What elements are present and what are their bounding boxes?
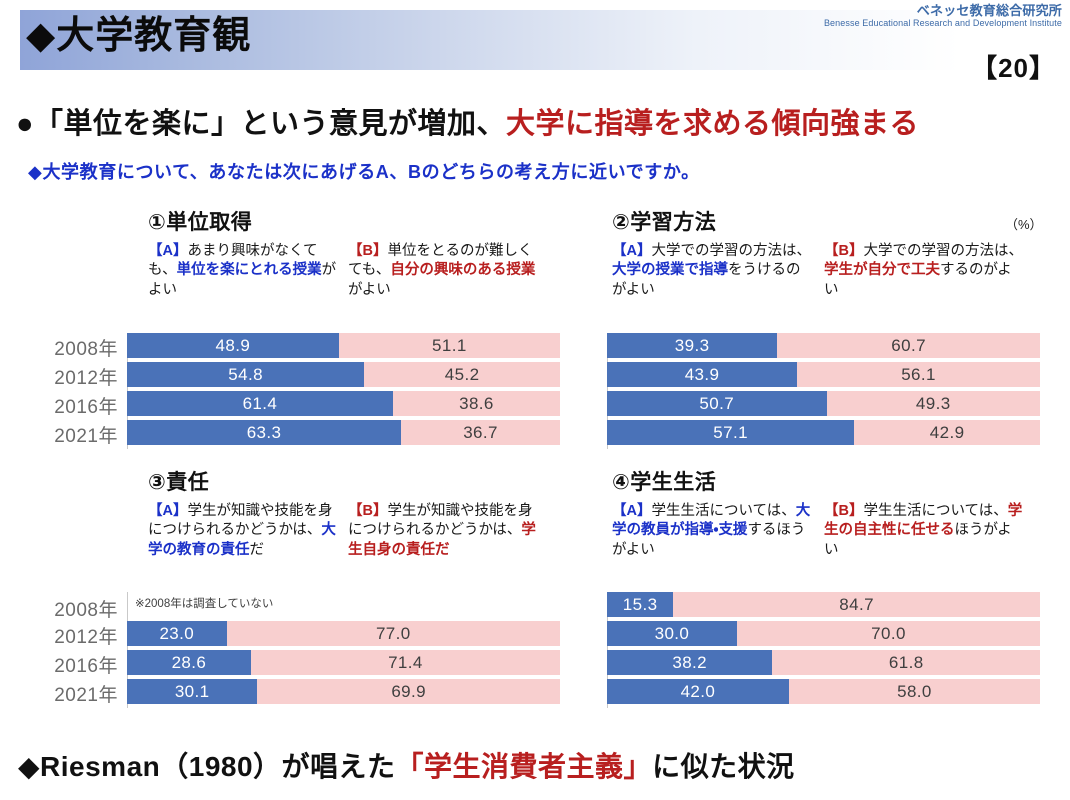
bar-series-b: 71.4 bbox=[251, 650, 560, 675]
year-label: 2016年 bbox=[54, 392, 118, 419]
footer-after: に似た状況 bbox=[652, 751, 795, 782]
bar-value-b: 38.6 bbox=[393, 391, 560, 416]
quadrant-title: ④学生生活 bbox=[612, 466, 1042, 496]
chart-row: 2021年 63.3 36.7 bbox=[127, 420, 560, 445]
bar-value-b: 77.0 bbox=[227, 621, 560, 646]
option-a-seg-2: 単位を楽にとれる授 bbox=[177, 262, 308, 278]
option-b-seg-0: 大学での学習の方 bbox=[863, 243, 979, 259]
option-a-seg-3: 導 bbox=[714, 262, 729, 278]
headline-accent: 大学に指導を求める傾向強まる bbox=[506, 108, 919, 140]
bar-value-a: 48.9 bbox=[127, 333, 339, 358]
bar-series-b: 36.7 bbox=[401, 420, 560, 445]
page-number: 【20】 bbox=[971, 48, 1056, 85]
chart-row: 15.3 84.7 bbox=[607, 592, 1040, 617]
chart-row: 2008年 48.9 51.1 bbox=[127, 333, 560, 358]
option-b-seg-4: がよい bbox=[348, 282, 391, 298]
option-b-tag: 【B】 bbox=[824, 503, 863, 519]
option-a-tag: 【A】 bbox=[612, 243, 651, 259]
no-survey-note: ※2008年は調査していない bbox=[135, 595, 273, 611]
chart-row-no-data: 2008年 ※2008年は調査していない bbox=[127, 592, 560, 617]
option-a-seg-0: 大学での学習の方 bbox=[651, 243, 767, 259]
bar-series-a: 57.1 bbox=[607, 420, 854, 445]
bar-series-a: 15.3 bbox=[607, 592, 673, 617]
option-a-tag: 【A】 bbox=[148, 503, 187, 519]
bar-value-a: 28.6 bbox=[127, 650, 251, 675]
quadrant-tanni-shutoku: ①単位取得 【A】あまり興味がなくても、単位を楽にとれる授業がよい 【B】単位を… bbox=[148, 206, 568, 328]
option-a-seg-0: 学生生活について bbox=[651, 503, 766, 519]
chart-row: 42.0 58.0 bbox=[607, 679, 1040, 704]
bar-value-a: 38.2 bbox=[607, 650, 772, 675]
bar-value-b: 42.9 bbox=[854, 420, 1040, 445]
bar-value-b: 51.1 bbox=[339, 333, 560, 358]
bar-series-a: 30.1 bbox=[127, 679, 257, 704]
bar-series-b: 38.6 bbox=[393, 391, 560, 416]
chart-row: 39.3 60.7 bbox=[607, 333, 1040, 358]
option-a-seg-4: だ bbox=[250, 542, 265, 558]
year-label: 2008年 bbox=[54, 334, 118, 361]
bar-series-a: 48.9 bbox=[127, 333, 339, 358]
option-b-seg-3: ある授業 bbox=[477, 262, 535, 278]
option-a-text: 【A】学生生活については、大学の教員が指導・支援するほうがよい bbox=[612, 502, 812, 560]
bar-series-b: 61.8 bbox=[772, 650, 1040, 675]
option-b-text: 【B】大学での学習の方法は、学生が自分で工夫するのがよい bbox=[824, 242, 1024, 300]
bar-value-a: 50.7 bbox=[607, 391, 827, 416]
bar-series-b: 42.9 bbox=[854, 420, 1040, 445]
bar-value-b: 60.7 bbox=[777, 333, 1040, 358]
chart-gakusei-seikatsu: 15.3 84.7 30.0 70.0 38.2 61.8 42.0 58.0 bbox=[607, 592, 1040, 708]
footer-before: ◆Riesman（1980）が唱えた bbox=[18, 751, 396, 782]
bar-value-a: 57.1 bbox=[607, 420, 854, 445]
chart-gakushu-houhou: 39.3 60.7 43.9 56.1 50.7 49.3 57.1 42.9 bbox=[607, 333, 1040, 449]
bar-series-b: 49.3 bbox=[827, 391, 1040, 416]
bar-series-b: 77.0 bbox=[227, 621, 560, 646]
bar-series-a: 23.0 bbox=[127, 621, 227, 646]
bar-series-a: 50.7 bbox=[607, 391, 827, 416]
footer-note: ◆Riesman（1980）が唱えた「学生消費者主義」に似た状況 bbox=[18, 745, 795, 785]
quadrant-sekinin: ③責任 【A】学生が知識や技能を身につけられるかどうかは、大学の教育の責任だ 【… bbox=[148, 466, 568, 588]
option-a-seg-3: 業 bbox=[307, 262, 322, 278]
option-b-seg-1: は、 bbox=[979, 503, 1008, 519]
chart-row: 30.0 70.0 bbox=[607, 621, 1040, 646]
bar-value-a: 30.0 bbox=[607, 621, 737, 646]
bar-series-a: 28.6 bbox=[127, 650, 251, 675]
bar-value-a: 42.0 bbox=[607, 679, 789, 704]
bar-value-b: 49.3 bbox=[827, 391, 1040, 416]
bar-value-b: 45.2 bbox=[364, 362, 560, 387]
year-label: 2021年 bbox=[54, 421, 118, 448]
option-a-seg-0: あまり興味がなくて bbox=[187, 243, 316, 259]
bar-value-b: 84.7 bbox=[673, 592, 1040, 617]
headline: ●「単位を楽に」という意見が増加、大学に指導を求める傾向強まる bbox=[16, 100, 1056, 142]
survey-question: ◆大学教育について、あなたは次にあげるA、Bのどちらの考え方に近いですか。 bbox=[28, 158, 700, 184]
year-label: 2021年 bbox=[54, 680, 118, 707]
option-a-text: 【A】あまり興味がなくても、単位を楽にとれる授業がよい bbox=[148, 242, 344, 300]
option-a-text: 【A】学生が知識や技能を身につけられるかどうかは、大学の教育の責任だ bbox=[148, 502, 344, 560]
option-a-seg-3: 支援 bbox=[718, 522, 747, 538]
option-b-text: 【B】学生が知識や技能を身につけられるかどうかは、学生自身の責任だ bbox=[348, 502, 544, 560]
option-b-seg-4: だ bbox=[435, 542, 450, 558]
chart-row: 2012年 54.8 45.2 bbox=[127, 362, 560, 387]
chart-tanni-shutoku: 2008年 48.9 51.1 2012年 54.8 45.2 2016年 61… bbox=[127, 333, 560, 449]
bar-series-b: 60.7 bbox=[777, 333, 1040, 358]
option-a-tag: 【A】 bbox=[148, 243, 187, 259]
chart-sekinin: 2008年 ※2008年は調査していない 2012年 23.0 77.0 201… bbox=[127, 592, 560, 708]
bar-value-a: 54.8 bbox=[127, 362, 364, 387]
bar-value-b: 61.8 bbox=[772, 650, 1040, 675]
chart-row: 2021年 30.1 69.9 bbox=[127, 679, 560, 704]
option-a-text: 【A】大学での学習の方法は、大学の授業で指導をうけるのがよい bbox=[612, 242, 812, 300]
quadrant-gakushu-houhou: ②学習方法 【A】大学での学習の方法は、大学の授業で指導をうけるのがよい 【B】… bbox=[612, 206, 1042, 328]
bar-value-a: 61.4 bbox=[127, 391, 393, 416]
chart-row: 50.7 49.3 bbox=[607, 391, 1040, 416]
option-b-seg-0: 単位をとるのが難 bbox=[387, 243, 503, 259]
option-b-seg-3: る bbox=[940, 522, 955, 538]
bar-value-a: 23.0 bbox=[127, 621, 227, 646]
bar-series-a: 61.4 bbox=[127, 391, 393, 416]
quadrant-title: ③責任 bbox=[148, 466, 568, 496]
bar-value-b: 58.0 bbox=[789, 679, 1040, 704]
option-b-tag: 【B】 bbox=[348, 503, 387, 519]
bar-series-b: 56.1 bbox=[797, 362, 1040, 387]
bar-series-b: 58.0 bbox=[789, 679, 1040, 704]
year-label: 2012年 bbox=[54, 622, 118, 649]
bar-value-a: 39.3 bbox=[607, 333, 777, 358]
bar-value-b: 36.7 bbox=[401, 420, 560, 445]
bar-value-b: 69.9 bbox=[257, 679, 560, 704]
option-b-text: 【B】単位をとるのが難しくても、自分の興味のある授業がよい bbox=[348, 242, 544, 300]
option-b-seg-3: 夫 bbox=[926, 262, 941, 278]
option-a-seg-2: 大学の授業で指 bbox=[612, 262, 714, 278]
bar-value-b: 70.0 bbox=[737, 621, 1040, 646]
chart-row: 57.1 42.9 bbox=[607, 420, 1040, 445]
option-b-seg-1: 法は、 bbox=[979, 243, 1023, 259]
headline-plain: ●「単位を楽に」という意見が増加、 bbox=[16, 108, 506, 140]
bar-series-b: 45.2 bbox=[364, 362, 560, 387]
bar-series-b: 70.0 bbox=[737, 621, 1040, 646]
bar-series-a: 39.3 bbox=[607, 333, 777, 358]
bar-series-b: 84.7 bbox=[673, 592, 1040, 617]
option-b-seg-2: 自分の興味の bbox=[390, 262, 477, 278]
bar-series-a: 63.3 bbox=[127, 420, 401, 445]
option-a-seg-0: 学生が知識や技能を bbox=[187, 503, 318, 519]
brand-name-en: Benesse Educational Research and Develop… bbox=[824, 18, 1062, 29]
option-b-seg-2: 学生が自分で工 bbox=[824, 262, 926, 278]
option-b-text: 【B】学生生活については、学生の自主性に任せるほうがよい bbox=[824, 502, 1024, 560]
year-label: 2012年 bbox=[54, 363, 118, 390]
footer-accent: 「学生消費者主義」 bbox=[396, 751, 653, 782]
option-b-seg-0: 学生が知識や技能 bbox=[387, 503, 503, 519]
chart-row: 2016年 28.6 71.4 bbox=[127, 650, 560, 675]
page-title: ◆大学教育観 bbox=[26, 16, 251, 58]
bar-series-a: 42.0 bbox=[607, 679, 789, 704]
bar-series-a: 38.2 bbox=[607, 650, 772, 675]
year-label: 2016年 bbox=[54, 651, 118, 678]
chart-row: 2012年 23.0 77.0 bbox=[127, 621, 560, 646]
bar-series-b: 69.9 bbox=[257, 679, 560, 704]
brand-name-ja: ベネッセ教育総合研究所 bbox=[824, 4, 1062, 18]
option-b-tag: 【B】 bbox=[824, 243, 863, 259]
chart-row: 2016年 61.4 38.6 bbox=[127, 391, 560, 416]
bar-series-a: 30.0 bbox=[607, 621, 737, 646]
year-label: 2008年 bbox=[54, 595, 118, 622]
option-a-tag: 【A】 bbox=[612, 503, 651, 519]
option-a-seg-2: は、 bbox=[292, 522, 321, 538]
bar-series-a: 43.9 bbox=[607, 362, 797, 387]
bar-value-a: 43.9 bbox=[607, 362, 797, 387]
quadrant-title: ②学習方法 bbox=[612, 206, 1042, 236]
bar-value-b: 56.1 bbox=[797, 362, 1040, 387]
option-a-seg-1: は、 bbox=[767, 503, 796, 519]
chart-row: 43.9 56.1 bbox=[607, 362, 1040, 387]
option-a-seg-1: 法は、 bbox=[767, 243, 811, 259]
bar-series-b: 51.1 bbox=[339, 333, 560, 358]
chart-row: 38.2 61.8 bbox=[607, 650, 1040, 675]
option-b-seg-0: 学生生活について bbox=[863, 503, 978, 519]
bar-series-a: 54.8 bbox=[127, 362, 364, 387]
option-a-seg-1: も、 bbox=[148, 262, 177, 278]
brand-logo: ベネッセ教育総合研究所 Benesse Educational Research… bbox=[824, 4, 1062, 29]
option-b-tag: 【B】 bbox=[348, 243, 387, 259]
option-b-seg-2: かは、 bbox=[479, 522, 522, 538]
quadrant-gakusei-seikatsu: ④学生生活 【A】学生生活については、大学の教員が指導・支援するほうがよい 【B… bbox=[612, 466, 1042, 588]
slide-root: ◆大学教育観 ベネッセ教育総合研究所 Benesse Educational R… bbox=[0, 0, 1070, 800]
quadrant-title: ①単位取得 bbox=[148, 206, 568, 236]
bar-value-a: 30.1 bbox=[127, 679, 257, 704]
bar-value-a: 63.3 bbox=[127, 420, 401, 445]
bar-value-b: 71.4 bbox=[251, 650, 560, 675]
bar-value-a: 15.3 bbox=[607, 592, 673, 617]
